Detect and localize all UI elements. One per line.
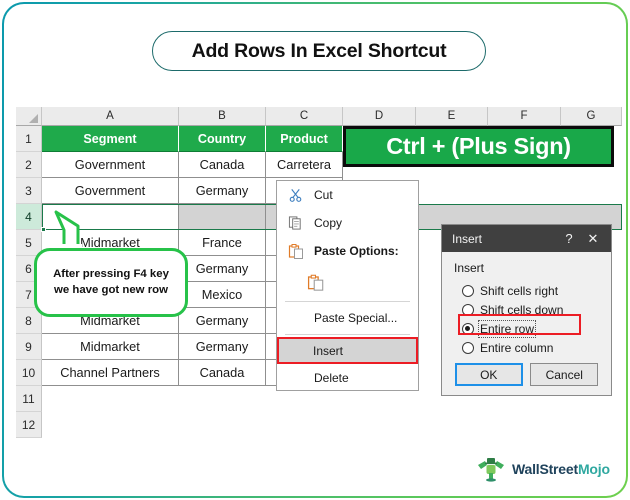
insert-dialog-body: Insert Shift cells right Shift cells dow… xyxy=(442,252,611,395)
menu-item-paste-special[interactable]: Paste Special... xyxy=(277,304,418,332)
radio-entire-column[interactable]: Entire column xyxy=(462,338,611,357)
paste-icon xyxy=(287,243,304,260)
copy-icon xyxy=(287,215,304,232)
brand-name-primary: WallStreet xyxy=(512,461,578,477)
context-menu[interactable]: Cut Copy Paste O xyxy=(276,180,419,391)
insert-dialog-buttons: OK Cancel xyxy=(442,363,611,386)
menu-item-paste-options-label: Paste Options: xyxy=(314,244,399,258)
radio-icon xyxy=(462,285,474,297)
row-header-10[interactable]: 10 xyxy=(16,360,42,386)
page-title: Add Rows In Excel Shortcut xyxy=(192,40,447,63)
table-cell[interactable]: Germany xyxy=(179,334,266,360)
table-header-cell[interactable]: Country xyxy=(179,126,266,152)
menu-item-cut[interactable]: Cut xyxy=(277,181,418,209)
help-icon[interactable]: ? xyxy=(557,228,581,250)
paste-keep-formatting-icon xyxy=(307,274,324,291)
menu-divider-1 xyxy=(285,301,410,302)
brand-name-secondary: Mojo xyxy=(578,461,610,477)
table-header-cell[interactable]: Product xyxy=(266,126,343,152)
column-header-f[interactable]: F xyxy=(488,107,561,126)
menu-item-cut-label: Cut xyxy=(314,188,333,202)
menu-item-insert[interactable]: Insert xyxy=(277,337,418,364)
menu-item-delete-label: Delete xyxy=(314,371,349,385)
menu-item-paste-keep-formatting[interactable] xyxy=(277,265,418,299)
radio-icon xyxy=(462,342,474,354)
page-title-pill: Add Rows In Excel Shortcut xyxy=(152,31,486,71)
table-cell[interactable]: Germany xyxy=(179,256,266,282)
inserted-row-cell[interactable] xyxy=(179,204,266,230)
radio-entire-column-label: Entire column xyxy=(480,341,553,355)
column-header-row: ABCDEFG xyxy=(16,107,622,126)
brand-logo: WallStreetMojo xyxy=(476,456,610,482)
table-cell[interactable]: Government xyxy=(42,152,179,178)
table-cell[interactable]: France xyxy=(179,230,266,256)
row-header-3[interactable]: 3 xyxy=(16,178,42,204)
menu-item-insert-label: Insert xyxy=(313,344,343,358)
page-frame: Add Rows In Excel Shortcut ABCDEFG 12345… xyxy=(2,2,628,498)
cancel-button[interactable]: Cancel xyxy=(530,363,598,386)
menu-divider-2 xyxy=(285,334,410,335)
table-cell[interactable]: Carretera xyxy=(266,152,343,178)
table-cell[interactable]: Mexico xyxy=(179,282,266,308)
column-header-c[interactable]: C xyxy=(266,107,343,126)
callout-text: After pressing F4 key we have got new ro… xyxy=(37,267,185,298)
table-cell[interactable]: Canada xyxy=(179,360,266,386)
row-header-2[interactable]: 2 xyxy=(16,152,42,178)
column-header-b[interactable]: B xyxy=(179,107,266,126)
column-header-d[interactable]: D xyxy=(343,107,416,126)
entire-row-highlight-box xyxy=(458,314,581,335)
callout-bubble: After pressing F4 key we have got new ro… xyxy=(34,248,188,317)
column-header-e[interactable]: E xyxy=(416,107,488,126)
brand-logo-text: WallStreetMojo xyxy=(512,461,610,477)
selection-fill-handle[interactable] xyxy=(41,227,46,232)
insert-group-label: Insert xyxy=(454,261,611,275)
insert-dialog[interactable]: Insert ? ✕ Insert Shift cells right Shif… xyxy=(441,224,612,396)
scissors-icon xyxy=(287,187,304,204)
wallstreetmojo-mark-icon xyxy=(476,456,506,482)
shortcut-banner: Ctrl + (Plus Sign) xyxy=(343,126,614,167)
table-cell[interactable]: Germany xyxy=(179,308,266,334)
row-header-9[interactable]: 9 xyxy=(16,334,42,360)
row-header-1[interactable]: 1 xyxy=(16,126,42,152)
menu-item-copy-label: Copy xyxy=(314,216,342,230)
menu-item-paste-options: Paste Options: xyxy=(277,237,418,265)
table-cell[interactable]: Government xyxy=(42,178,179,204)
close-icon[interactable]: ✕ xyxy=(581,228,605,250)
table-cell[interactable]: Canada xyxy=(179,152,266,178)
row-header-11[interactable]: 11 xyxy=(16,386,42,412)
menu-item-paste-special-label: Paste Special... xyxy=(314,311,397,325)
table-cell[interactable]: Germany xyxy=(179,178,266,204)
menu-item-delete[interactable]: Delete xyxy=(277,364,418,392)
page-content: Add Rows In Excel Shortcut ABCDEFG 12345… xyxy=(4,4,626,496)
table-cell[interactable]: Channel Partners xyxy=(42,360,179,386)
insert-dialog-titlebar: Insert ? ✕ xyxy=(442,225,611,252)
radio-shift-cells-right[interactable]: Shift cells right xyxy=(462,281,611,300)
menu-item-copy[interactable]: Copy xyxy=(277,209,418,237)
column-header-a[interactable]: A xyxy=(42,107,179,126)
shortcut-banner-text: Ctrl + (Plus Sign) xyxy=(386,133,571,160)
table-header-cell[interactable]: Segment xyxy=(42,126,179,152)
column-header-g[interactable]: G xyxy=(561,107,622,126)
ok-button[interactable]: OK xyxy=(455,363,523,386)
table-cell[interactable]: Midmarket xyxy=(42,334,179,360)
insert-dialog-title: Insert xyxy=(452,232,557,246)
radio-shift-cells-right-label: Shift cells right xyxy=(480,284,558,298)
row-header-4[interactable]: 4 xyxy=(16,204,42,230)
row-header-12[interactable]: 12 xyxy=(16,412,42,438)
